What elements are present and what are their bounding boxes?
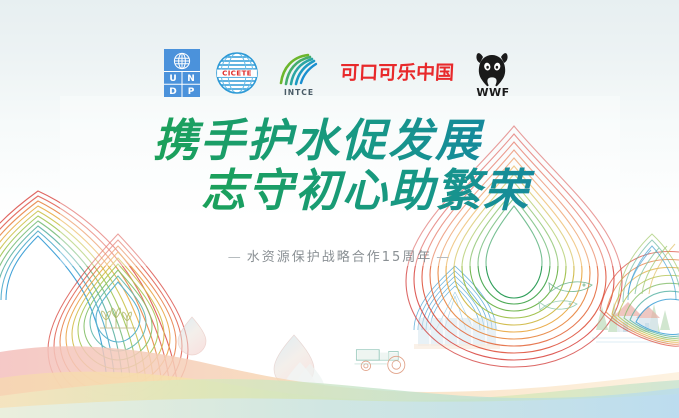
undp-icon: U N D P [164,49,200,97]
poster-canvas: U N D P [0,0,679,418]
art-waves [0,346,679,418]
undp-logo: U N D P [164,49,200,97]
svg-text:D: D [170,87,177,97]
subtitle-dash-left: — [224,250,247,265]
art-right-upper-arc [618,234,679,304]
wwf-logo: WWF [471,48,515,98]
cicete-logo: CICETE [214,50,260,96]
intce-logo: INTCE [274,48,324,98]
svg-text:CICETE: CICETE [223,69,253,78]
art-dam [414,318,500,349]
partner-logo-row: U N D P [0,48,679,98]
subtitle-dash-right: — [432,250,455,265]
svg-text:P: P [188,87,195,97]
art-tractor [355,350,405,374]
subtitle-text: 水资源保护战略合作15周年 [247,250,433,265]
cicete-icon: CICETE [214,50,260,96]
svg-text:INTCE: INTCE [284,88,314,97]
coca-cola-china-logo: 可口可乐中国 [338,64,457,83]
wwf-panda-icon: WWF [471,48,515,98]
svg-text:U: U [170,74,177,84]
subtitle: —水资源保护战略合作15周年— [0,246,679,265]
intce-icon: INTCE [274,48,324,98]
svg-text:WWF: WWF [476,86,509,98]
svg-text:N: N [188,74,196,84]
